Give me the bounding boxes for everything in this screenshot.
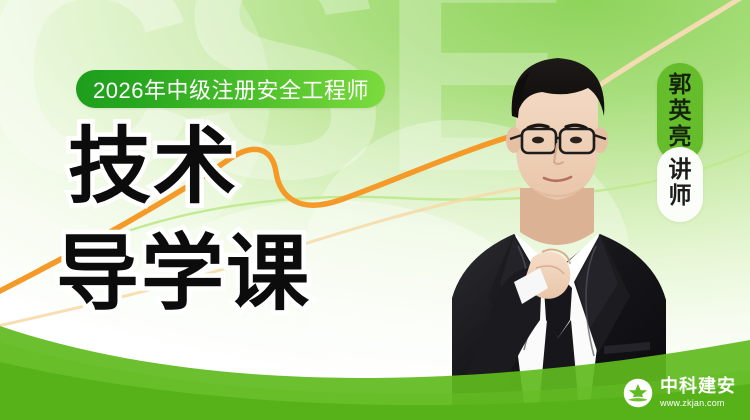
mountain-star-logo-icon <box>623 378 653 408</box>
course-banner-label: 2026年中级注册安全工程师 <box>93 73 369 105</box>
instructor-name-char-2: 英 <box>669 99 692 125</box>
brand-url: www.zkjan.com <box>660 399 736 408</box>
instructor-role-badge: 讲 师 <box>657 147 703 222</box>
watermark-letter-e: E <box>380 0 567 186</box>
course-banner-pill: 2026年中级注册安全工程师 <box>76 70 385 108</box>
brand-name: 中科建安 <box>660 378 736 396</box>
headline-line-1: 技术 <box>68 126 311 207</box>
instructor-role-char-1: 讲 <box>669 158 692 184</box>
headline-line-2: 导学课 <box>56 233 311 314</box>
instructor-role-char-2: 师 <box>669 184 692 210</box>
page-title: 技术 导学课 <box>68 126 311 315</box>
brand-logo-text: 中科建安 www.zkjan.com <box>660 378 736 408</box>
course-poster: C S E <box>0 0 750 420</box>
instructor-name-char-1: 郭 <box>669 73 692 99</box>
brand-logo: 中科建安 www.zkjan.com <box>623 378 736 408</box>
background-blob-center <box>300 120 630 420</box>
